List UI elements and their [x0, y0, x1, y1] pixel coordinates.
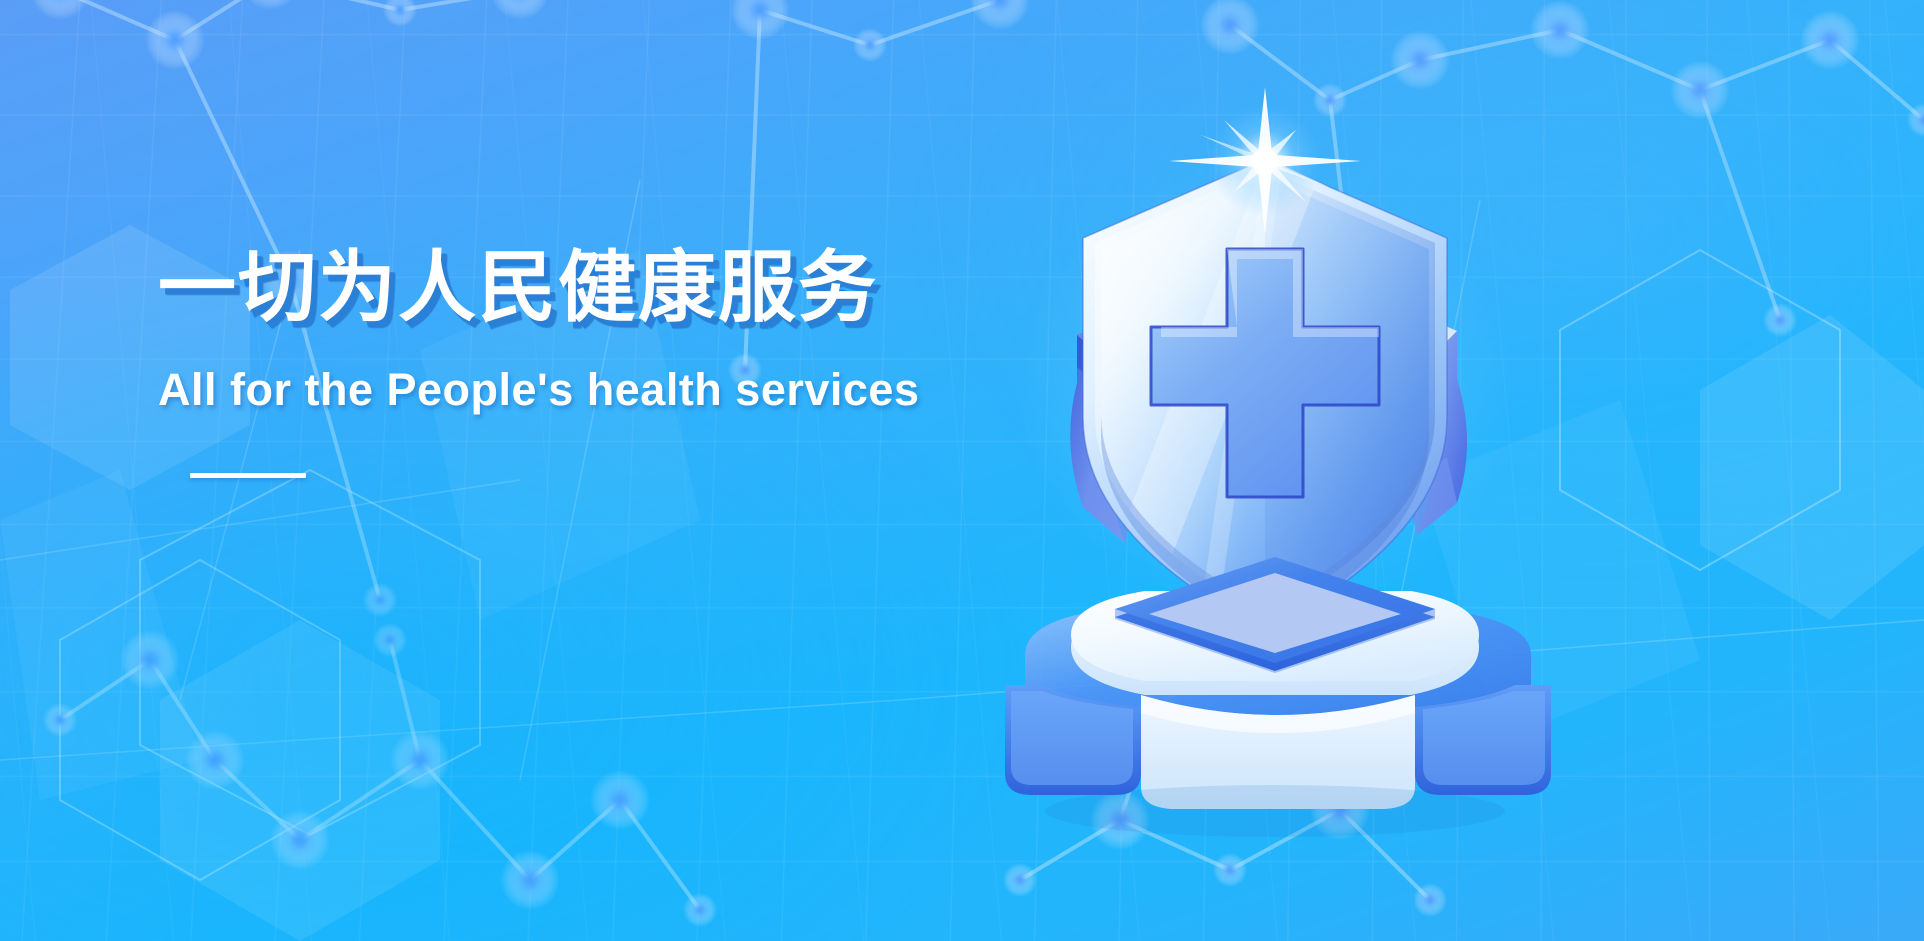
health-banner: 一切为人民健康服务 All for the People's health se…: [0, 0, 1924, 941]
banner-text-block: 一切为人民健康服务 All for the People's health se…: [158, 248, 978, 478]
pedestal: [1005, 557, 1551, 837]
health-shield-emblem: [965, 95, 1575, 795]
title-divider: [190, 473, 306, 478]
page-title: 一切为人民健康服务: [158, 248, 978, 326]
page-subtitle: All for the People's health services: [158, 364, 978, 416]
